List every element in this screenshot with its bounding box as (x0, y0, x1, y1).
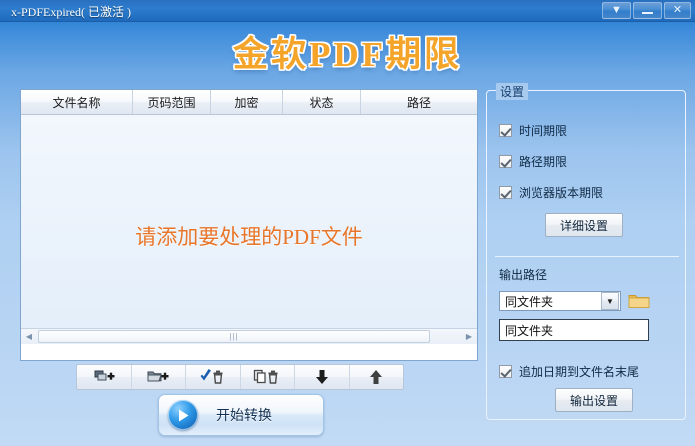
arrow-down-icon (314, 368, 330, 386)
column-header-page-range[interactable]: 页码范围 (133, 90, 211, 114)
add-file-button[interactable] (77, 365, 132, 389)
minimize-icon (642, 12, 653, 14)
column-header-path[interactable]: 路径 (361, 90, 477, 114)
close-button[interactable]: ✕ (664, 2, 691, 19)
browse-folder-button[interactable] (627, 289, 651, 311)
checkbox-time-limit-label: 时间期限 (519, 122, 567, 139)
copy-trash-icon (252, 368, 282, 386)
checkbox-append-date[interactable]: 追加日期到文件名末尾 (499, 363, 639, 380)
chevron-down-icon-button[interactable]: ▼ (602, 2, 631, 19)
chevron-down-icon[interactable]: ▼ (601, 292, 619, 310)
panel-divider (495, 256, 679, 257)
delete-selected-button[interactable] (186, 365, 241, 389)
move-up-button[interactable] (350, 365, 404, 389)
checkbox-append-date-label: 追加日期到文件名末尾 (519, 363, 639, 380)
play-icon (168, 400, 198, 430)
start-convert-label: 开始转换 (216, 405, 272, 425)
add-folder-button[interactable] (132, 365, 187, 389)
move-down-button[interactable] (295, 365, 350, 389)
title-bar: x-PDFExpired( 已激活 ) ▼ ✕ (0, 0, 695, 22)
checkbox-icon[interactable] (499, 186, 512, 199)
output-path-label: 输出路径 (499, 266, 547, 283)
column-header-status[interactable]: 状态 (283, 90, 361, 114)
file-list-header: 文件名称 页码范围 加密 状态 路径 (21, 90, 477, 115)
settings-panel-legend: 设置 (496, 83, 528, 100)
output-path-input[interactable]: 同文件夹 (499, 319, 649, 341)
scrollbar-thumb[interactable]: ||| (38, 330, 430, 343)
close-icon: ✕ (673, 5, 682, 16)
detail-settings-button[interactable]: 详细设置 (545, 213, 623, 237)
window-title: x-PDFExpired( 已激活 ) (11, 3, 131, 20)
settings-panel: 设置 时间期限 路径期限 浏览器版本期限 详细设置 输出路径 同文件夹 ▼ 同文… (486, 90, 686, 420)
check-trash-icon (199, 368, 227, 386)
column-header-encrypt[interactable]: 加密 (211, 90, 283, 114)
checkbox-path-limit-label: 路径期限 (519, 153, 567, 170)
add-file-icon (93, 368, 115, 386)
file-list-toolbar (76, 364, 404, 390)
add-folder-icon (146, 368, 170, 386)
checkbox-path-limit[interactable]: 路径期限 (499, 153, 567, 170)
checkbox-browser-version-limit[interactable]: 浏览器版本期限 (499, 184, 603, 201)
scrollbar-track[interactable]: ||| (37, 329, 461, 344)
checkbox-time-limit[interactable]: 时间期限 (499, 122, 567, 139)
output-path-dropdown[interactable]: 同文件夹 ▼ (499, 291, 621, 311)
checkbox-icon[interactable] (499, 365, 512, 378)
output-settings-button[interactable]: 输出设置 (555, 388, 633, 412)
arrow-up-icon (368, 368, 384, 386)
start-convert-button[interactable]: 开始转换 (158, 394, 324, 436)
column-header-filename[interactable]: 文件名称 (21, 90, 133, 114)
minimize-button[interactable] (633, 2, 662, 19)
checkbox-icon[interactable] (499, 124, 512, 137)
scroll-right-arrow-icon[interactable]: ▶ (461, 329, 477, 344)
scroll-left-arrow-icon[interactable]: ◀ (21, 329, 37, 344)
checkbox-browser-version-limit-label: 浏览器版本期限 (519, 184, 603, 201)
file-list-panel: 文件名称 页码范围 加密 状态 路径 请添加要处理的PDF文件 ◀ ||| ▶ (20, 89, 478, 361)
checkbox-icon[interactable] (499, 155, 512, 168)
output-path-dropdown-value: 同文件夹 (500, 293, 601, 310)
folder-icon (628, 292, 650, 309)
file-list-body[interactable]: 请添加要处理的PDF文件 ◀ ||| ▶ (21, 115, 477, 344)
app-logo-title: 金软PDF期限 (0, 32, 695, 78)
horizontal-scrollbar[interactable]: ◀ ||| ▶ (21, 328, 477, 344)
chevron-down-icon: ▼ (611, 5, 622, 16)
delete-all-button[interactable] (241, 365, 296, 389)
file-list-empty-message: 请添加要处理的PDF文件 (21, 221, 477, 251)
